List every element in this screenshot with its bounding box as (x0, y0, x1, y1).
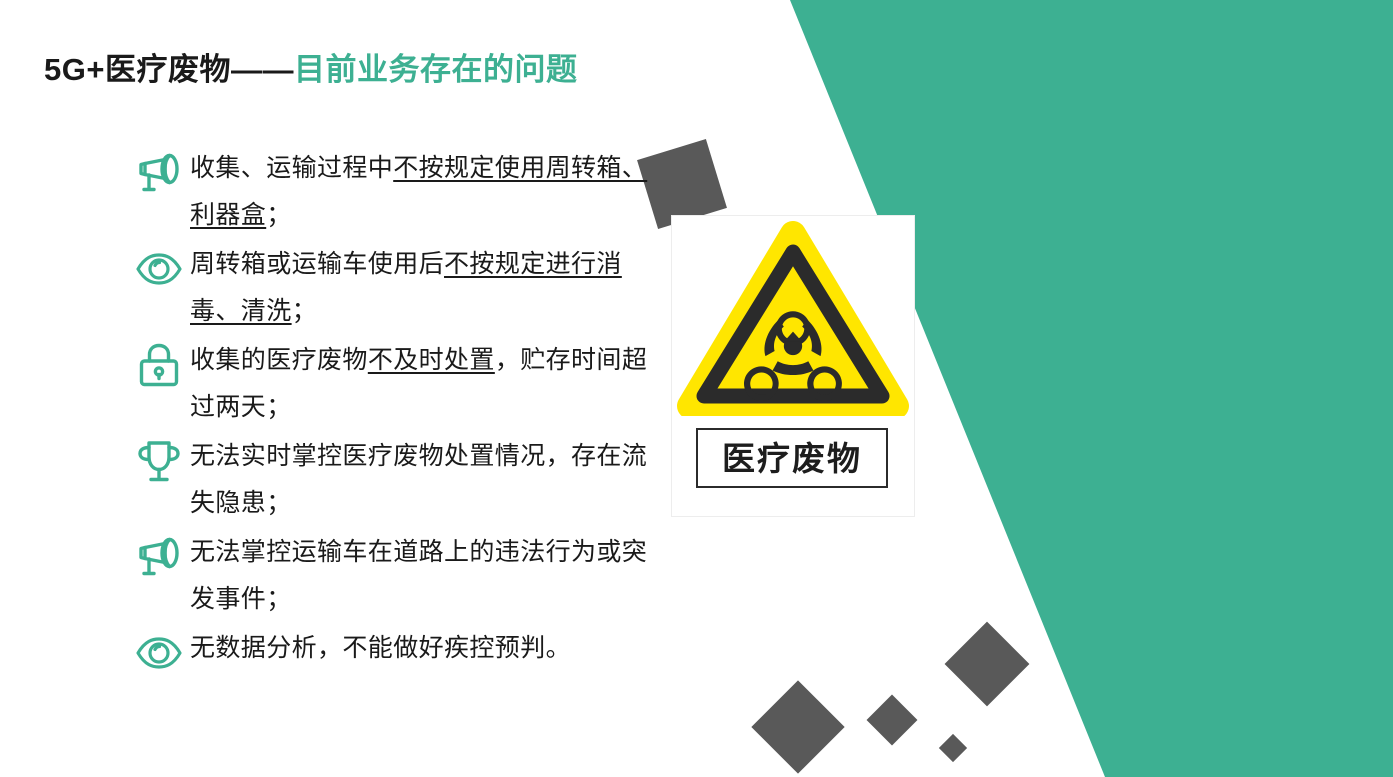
megaphone-icon (128, 533, 190, 581)
biohazard-icon (672, 220, 914, 416)
list-item-text: 无数据分析，不能做好疾控预判。 (190, 625, 648, 672)
title-teal-part: 目前业务存在的问题 (294, 52, 578, 87)
trophy-icon (128, 437, 190, 485)
medical-waste-warning-sign: 医疗废物 (672, 216, 914, 516)
list-item-text: 无法掌控运输车在道路上的违法行为或突发事件； (190, 529, 648, 623)
sign-label-text: 医疗废物 (722, 442, 862, 475)
list-item: 无数据分析，不能做好疾控预判。 (128, 625, 648, 677)
text-underlined: 不及时处置 (368, 346, 495, 374)
page-title: 5G+医疗废物——目前业务存在的问题 (44, 44, 577, 89)
list-item-text: 收集的医疗废物不及时处置，贮存时间超过两天； (190, 337, 648, 431)
text-tail: ； (266, 201, 291, 229)
text-tail: ； (292, 297, 317, 325)
text-plain: 周转箱或运输车使用后 (190, 250, 444, 278)
slide-canvas: 5G+医疗废物——目前业务存在的问题 收集、运输过程中不按规定使用周转箱、利器盒… (0, 0, 1393, 777)
text-plain: 收集的医疗废物 (190, 346, 368, 374)
list-item: 收集的医疗废物不及时处置，贮存时间超过两天； (128, 337, 648, 431)
eye-icon (128, 245, 190, 293)
text-plain: 无法实时掌控医疗废物处置情况，存在流失隐患； (190, 442, 647, 517)
list-item-text: 无法实时掌控医疗废物处置情况，存在流失隐患； (190, 433, 648, 527)
problem-list: 收集、运输过程中不按规定使用周转箱、利器盒； 周转箱或运输车使用后不按规定进行消… (128, 145, 648, 679)
list-item-text: 周转箱或运输车使用后不按规定进行消毒、清洗； (190, 241, 648, 335)
text-plain: 收集、运输过程中 (190, 154, 393, 182)
text-plain: 无法掌控运输车在道路上的违法行为或突发事件； (190, 538, 647, 613)
list-item: 无法实时掌控医疗废物处置情况，存在流失隐患； (128, 433, 648, 527)
decor-diamond-large (945, 622, 1030, 707)
list-item: 收集、运输过程中不按规定使用周转箱、利器盒； (128, 145, 648, 239)
list-item: 周转箱或运输车使用后不按规定进行消毒、清洗； (128, 241, 648, 335)
decor-diamond-mid (867, 695, 918, 746)
status-badge: 医疗废物 (696, 428, 888, 488)
title-dark-part: 5G+医疗废物—— (44, 52, 294, 87)
list-item-text: 收集、运输过程中不按规定使用周转箱、利器盒； (190, 145, 648, 239)
eye-icon (128, 629, 190, 677)
megaphone-icon (128, 149, 190, 197)
list-item: 无法掌控运输车在道路上的违法行为或突发事件； (128, 529, 648, 623)
decor-diamond-small (939, 734, 967, 762)
text-plain: 无数据分析，不能做好疾控预判。 (190, 634, 571, 662)
lock-icon (128, 341, 190, 389)
decor-diamond-left (751, 680, 844, 773)
